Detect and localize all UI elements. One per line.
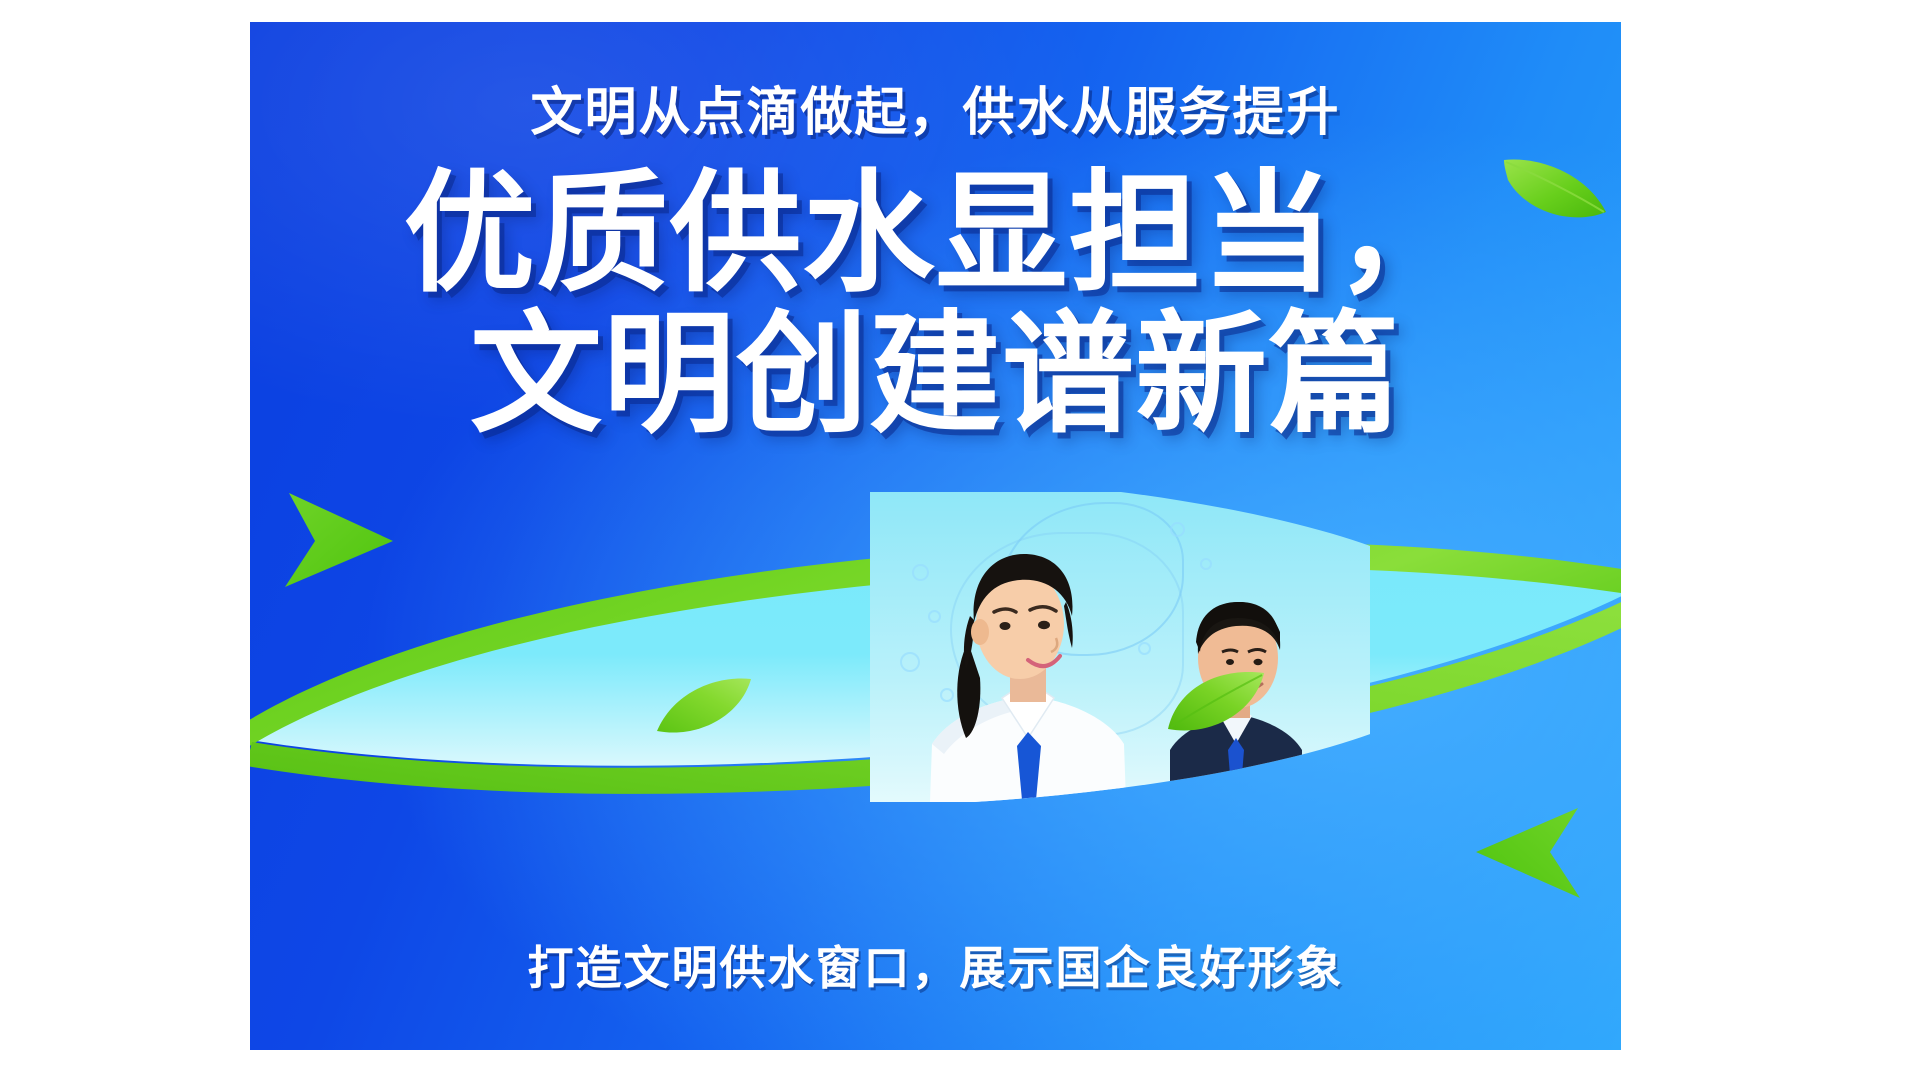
leaf-icon xyxy=(655,675,755,746)
poster-headline-line-2: 文明创建谱新篇 xyxy=(250,308,1621,443)
female-staff xyxy=(870,492,1370,802)
arrow-right-icon xyxy=(275,485,405,600)
arrow-left-icon xyxy=(1470,802,1590,907)
poster-subtitle: 文明从点滴做起，供水从服务提升 xyxy=(250,70,1621,145)
headline-block: 文明从点滴做起，供水从服务提升 优质供水显担当， 文明创建谱新篇 xyxy=(250,22,1621,442)
staff-photo xyxy=(870,492,1370,802)
poster-tagline: 打造文明供水窗口，展示国企良好形象 xyxy=(250,932,1621,998)
poster-headline-line-1: 优质供水显担当， xyxy=(250,167,1621,302)
poster-canvas: 文明从点滴做起，供水从服务提升 优质供水显担当， 文明创建谱新篇 打造文明供水窗… xyxy=(250,22,1621,1050)
leaf-icon xyxy=(1165,667,1267,742)
